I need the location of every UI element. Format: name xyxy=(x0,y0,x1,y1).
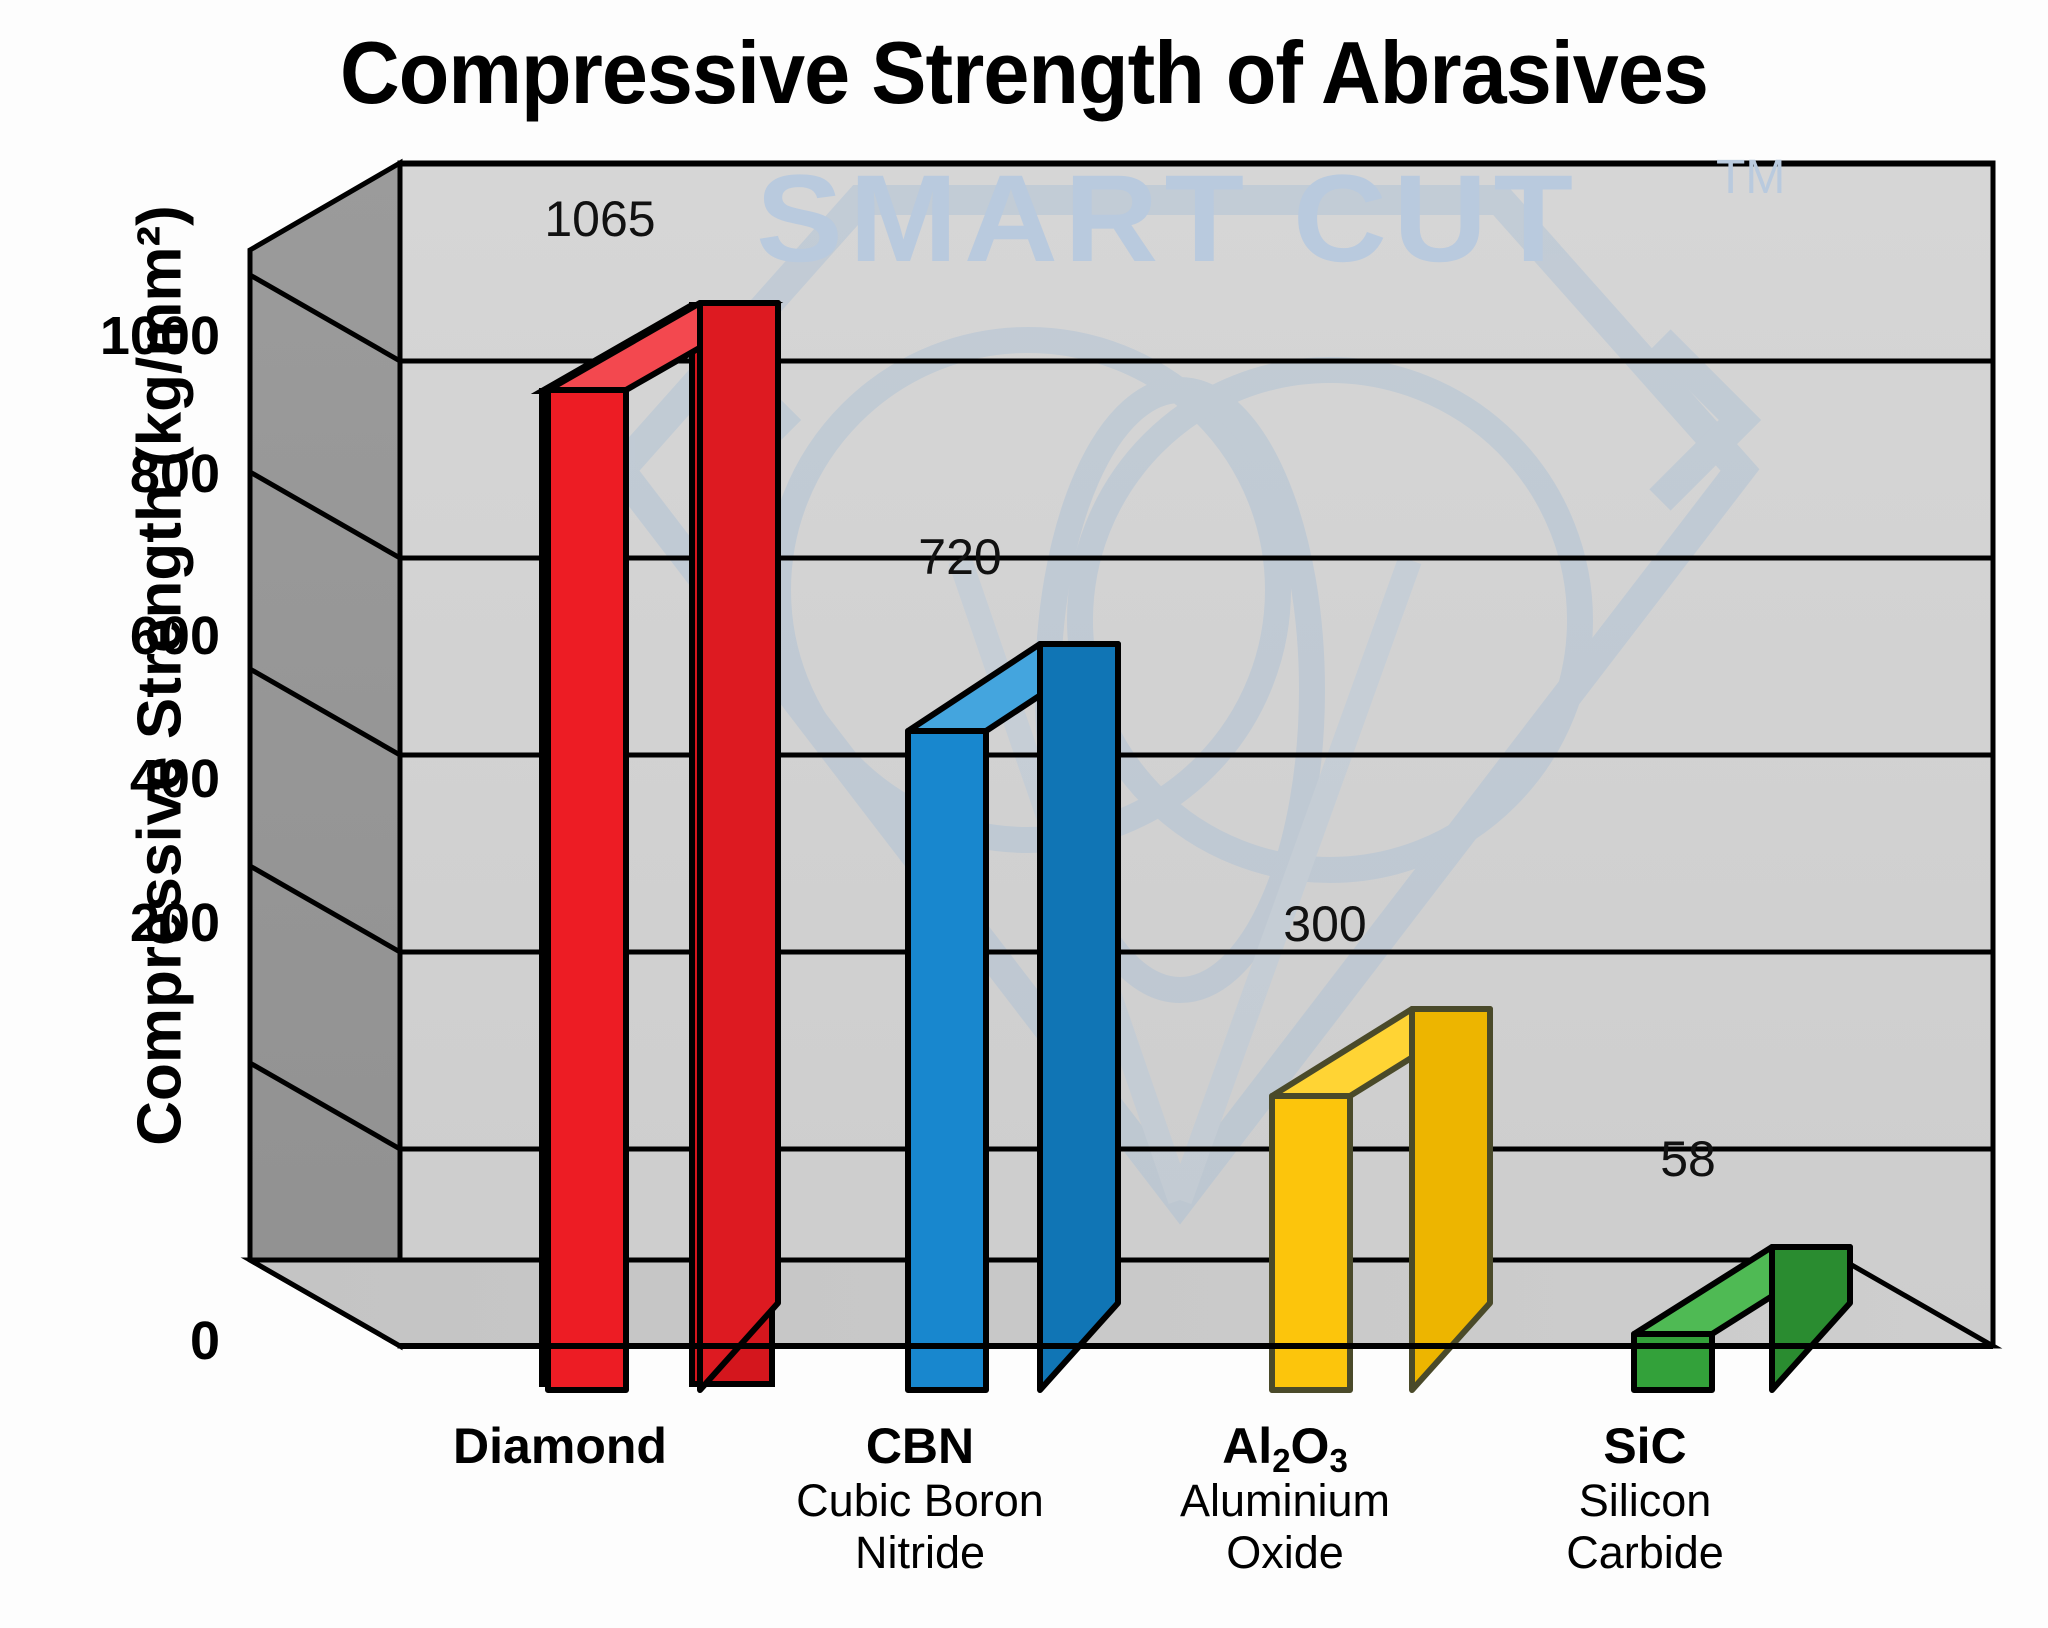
category-label-al2o3: Al2O3 Aluminium Oxide xyxy=(1075,1418,1495,1579)
watermark-trademark: TM xyxy=(1716,150,1785,205)
category-sub2-al2o3: Oxide xyxy=(1075,1527,1495,1579)
al2o3-formula: Al2O3 xyxy=(1222,1418,1348,1474)
category-label-cbn: CBN Cubic Boron Nitride xyxy=(710,1418,1130,1579)
y-tick-600: 600 xyxy=(40,605,220,667)
plot-left-wall xyxy=(250,163,400,1346)
watermark-text: SMART CUT xyxy=(756,148,1579,290)
y-tick-1000: 1000 xyxy=(40,305,220,367)
value-label-sic: 58 xyxy=(1548,1130,1828,1188)
category-main-cbn: CBN xyxy=(710,1418,1130,1475)
category-sub2-cbn: Nitride xyxy=(710,1527,1130,1579)
category-sub1-cbn: Cubic Boron xyxy=(710,1475,1130,1527)
category-sub2-sic: Carbide xyxy=(1435,1527,1855,1579)
y-tick-400: 400 xyxy=(40,748,220,810)
y-tick-0: 0 xyxy=(40,1310,220,1372)
value-label-al2o3: 300 xyxy=(1185,895,1465,953)
y-tick-800: 800 xyxy=(40,443,220,505)
category-sub1-sic: Silicon xyxy=(1435,1475,1855,1527)
plot-floor xyxy=(250,1260,1993,1346)
chart-root: Compressive Strength of Abrasives xyxy=(0,0,2048,1628)
category-main-al2o3: Al2O3 xyxy=(1075,1418,1495,1475)
value-label-diamond: 1065 xyxy=(460,190,740,248)
category-sub1-al2o3: Aluminium xyxy=(1075,1475,1495,1527)
category-main-diamond: Diamond xyxy=(350,1418,770,1475)
category-label-sic: SiC Silicon Carbide xyxy=(1435,1418,1855,1579)
category-label-diamond: Diamond xyxy=(350,1418,770,1475)
value-label-cbn: 720 xyxy=(820,528,1100,586)
y-tick-200: 200 xyxy=(40,892,220,954)
category-main-sic: SiC xyxy=(1435,1418,1855,1475)
